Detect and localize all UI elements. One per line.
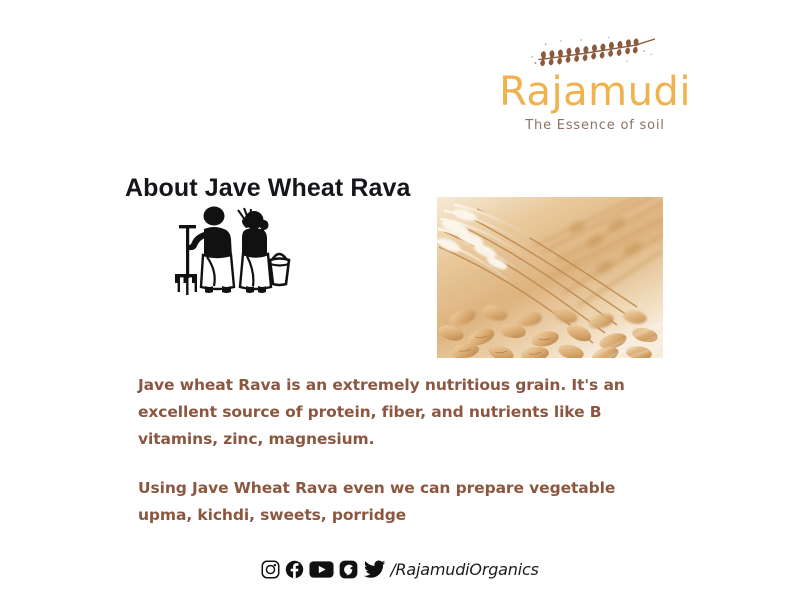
wheat-sprig-icon [470, 34, 720, 68]
instagram-icon[interactable] [261, 560, 280, 579]
brand-tagline: The Essence of soil [470, 117, 720, 135]
body-copy: Jave wheat Rava is an extremely nutritio… [138, 372, 668, 529]
twitter-icon[interactable] [363, 560, 387, 579]
paragraph-uses: Using Jave Wheat Rava even we can prepar… [138, 475, 668, 529]
koo-icon[interactable] [339, 560, 358, 579]
footer: /RajamudiOrganics [0, 560, 800, 579]
brand-wordmark: Rajamudi [470, 70, 720, 114]
paragraph-nutrition: Jave wheat Rava is an extremely nutritio… [138, 372, 668, 453]
social-icons [261, 560, 387, 579]
brand-logo: Rajamudi The Essence of soil [470, 34, 720, 135]
two-farmers-illustration [166, 198, 294, 303]
facebook-icon[interactable] [285, 560, 304, 579]
youtube-icon[interactable] [309, 560, 334, 579]
wheat-grains-photo [437, 197, 663, 358]
social-handle: /RajamudiOrganics [390, 560, 538, 579]
